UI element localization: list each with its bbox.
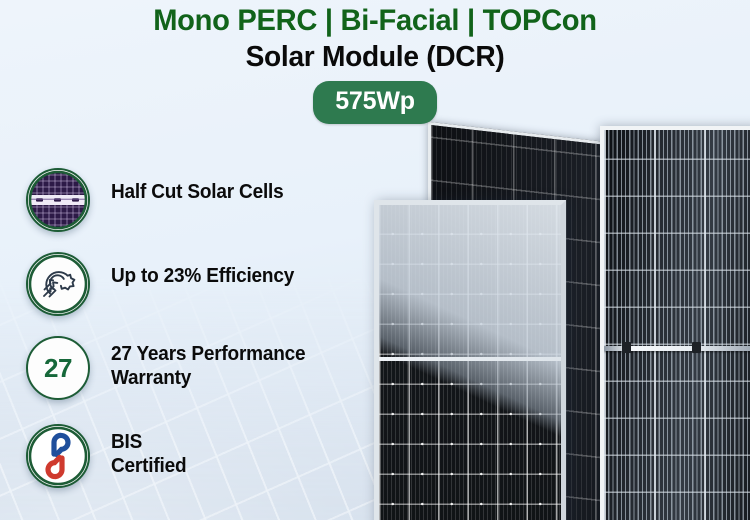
bifacial-module-cell-grid (604, 130, 750, 520)
front-module-glare-reflection (379, 205, 561, 520)
efficiency-gear-icon (26, 252, 90, 316)
warranty-years-number: 27 (28, 338, 88, 398)
feature-item-half-cut-cells: Half Cut Solar Cells (26, 168, 406, 232)
page-title-primary: Mono PERC | Bi-Facial | TOPCon (11, 4, 739, 38)
page-title-secondary: Solar Module (DCR) (11, 41, 739, 74)
right-bifacial-module (600, 126, 750, 520)
header-block: Mono PERC | Bi-Facial | TOPCon Solar Mod… (0, 0, 750, 124)
feature-item-efficiency: Up to 23% Efficiency (26, 252, 406, 316)
promo-banner: Mono PERC | Bi-Facial | TOPCon Solar Mod… (0, 0, 750, 520)
front-module-cell-grid (379, 205, 561, 520)
front-module-center-busbar (379, 357, 561, 361)
bifacial-module-busbar (604, 346, 750, 351)
rear-module-cell-grid (431, 125, 676, 520)
solar-cell-icon (26, 168, 90, 232)
feature-label-warranty: 27 Years Performance Warranty (111, 336, 305, 390)
power-rating-badge: 575Wp (313, 81, 437, 124)
feature-item-bis-certified: BIS Certified (26, 424, 406, 488)
front-module-cell-contacts (379, 205, 561, 520)
rear-tilted-module (428, 122, 679, 520)
bifacial-module-connector-right (692, 342, 701, 353)
bis-logo-icon (26, 424, 90, 488)
feature-label-half-cut-cells: Half Cut Solar Cells (111, 168, 284, 204)
feature-item-warranty: 27 27 Years Performance Warranty (26, 336, 406, 400)
warranty-27-icon: 27 (26, 336, 90, 400)
feature-list: Half Cut Solar Cells Up to 23% Efficienc… (26, 168, 406, 508)
feature-label-bis-certified: BIS Certified (111, 424, 186, 478)
power-badge-wrapper: 575Wp (0, 81, 750, 124)
bifacial-module-connector-left (622, 342, 631, 353)
feature-label-efficiency: Up to 23% Efficiency (111, 252, 294, 288)
